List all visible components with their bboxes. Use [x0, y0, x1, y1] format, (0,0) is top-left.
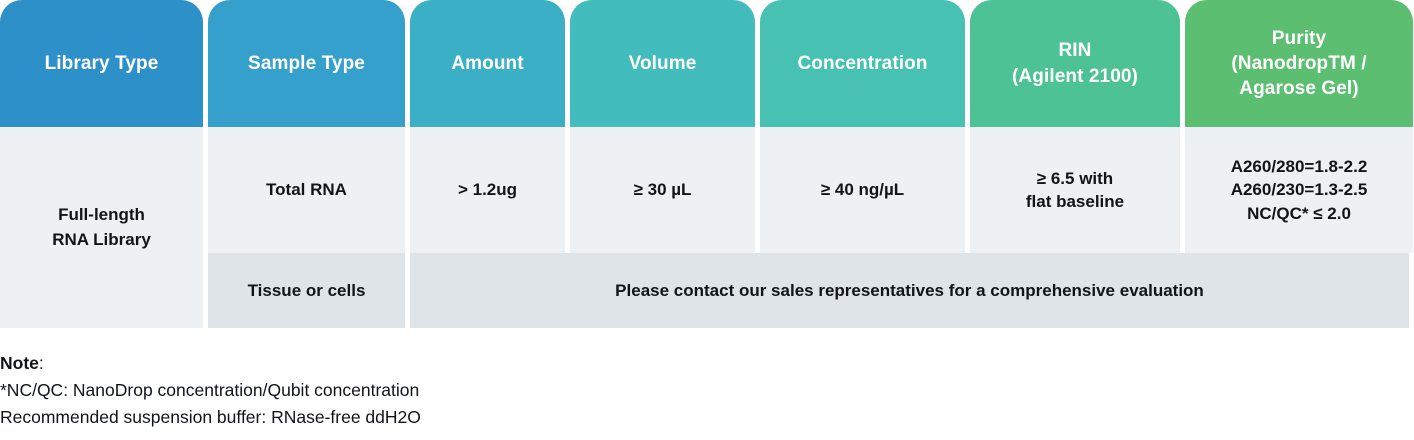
table-row: Tissue or cells Please contact our sales…: [0, 253, 1414, 328]
cell-sample-type-row1: Total RNA: [208, 127, 405, 253]
cell-rin-row1-line2: flat baseline: [1026, 190, 1124, 213]
note-title-suffix: :: [39, 353, 44, 373]
cell-purity-row1-line3: NC/QC* ≤ 2.0: [1231, 202, 1368, 225]
column-header-rin: RIN (Agilent 2100): [970, 0, 1180, 127]
note-line-1: *NC/QC: NanoDrop concentration/Qubit con…: [0, 377, 800, 404]
column-header-volume-label: Volume: [629, 51, 697, 76]
column-header-concentration-label: Concentration: [797, 51, 927, 76]
column-header-library-type-label: Library Type: [45, 51, 159, 76]
column-header-concentration: Concentration: [760, 0, 965, 127]
column-header-sample-type-label: Sample Type: [248, 51, 365, 76]
cell-purity-row1-line1: A260/280=1.8-2.2: [1231, 155, 1368, 178]
table-row: Total RNA > 1.2ug ≥ 30 µL ≥ 40 ng/µL ≥ 6…: [0, 127, 1414, 253]
cell-rin-row1-line1: ≥ 6.5 with: [1026, 167, 1124, 190]
cell-volume-row1: ≥ 30 µL: [570, 127, 755, 253]
column-header-sample-type: Sample Type: [208, 0, 405, 127]
cell-concentration-row1-text: ≥ 40 ng/µL: [821, 178, 904, 201]
note-title: Note: [0, 353, 39, 373]
cell-rin-row1: ≥ 6.5 with flat baseline: [970, 127, 1180, 253]
cell-sample-type-row2-text: Tissue or cells: [248, 279, 366, 302]
cell-concentration-row1: ≥ 40 ng/µL: [760, 127, 965, 253]
note-line-2: Recommended suspension buffer: RNase-fre…: [0, 404, 800, 431]
cell-amount-row1: > 1.2ug: [410, 127, 565, 253]
column-header-amount-label: Amount: [451, 51, 523, 76]
cell-library-type-line2: RNA Library: [52, 228, 151, 253]
column-header-volume: Volume: [570, 0, 755, 127]
table-header-row: Library Type Sample Type Amount Volume C…: [0, 0, 1414, 127]
column-header-purity-label-line3: Agarose Gel): [1231, 76, 1366, 101]
column-header-purity-label-line2: (NanodropTM /: [1231, 51, 1366, 76]
column-header-rin-label-line2: (Agilent 2100): [1012, 64, 1138, 89]
column-header-purity-label-line1: Purity: [1231, 26, 1366, 51]
note-title-line: Note:: [0, 350, 800, 377]
cell-library-type-merged: Full-length RNA Library: [0, 127, 203, 328]
column-header-purity: Purity (NanodropTM / Agarose Gel): [1185, 0, 1413, 127]
column-header-library-type: Library Type: [0, 0, 203, 127]
requirements-table-figure: Library Type Sample Type Amount Volume C…: [0, 0, 1414, 440]
column-header-rin-label-line1: RIN: [1012, 38, 1138, 63]
cell-sample-type-row2: Tissue or cells: [208, 253, 405, 328]
column-header-amount: Amount: [410, 0, 565, 127]
cell-purity-row1-line2: A260/230=1.3-2.5: [1231, 178, 1368, 201]
sample-requirements-table: Library Type Sample Type Amount Volume C…: [0, 0, 1414, 328]
cell-merged-message-row2-text: Please contact our sales representatives…: [615, 279, 1204, 302]
cell-merged-message-row2: Please contact our sales representatives…: [410, 253, 1409, 328]
cell-sample-type-row1-text: Total RNA: [266, 178, 347, 201]
cell-amount-row1-text: > 1.2ug: [458, 178, 517, 201]
cell-volume-row1-text: ≥ 30 µL: [634, 178, 692, 201]
note-block: Note: *NC/QC: NanoDrop concentration/Qub…: [0, 350, 800, 431]
cell-purity-row1: A260/280=1.8-2.2 A260/230=1.3-2.5 NC/QC*…: [1185, 127, 1413, 253]
cell-library-type-line1: Full-length: [52, 203, 151, 228]
